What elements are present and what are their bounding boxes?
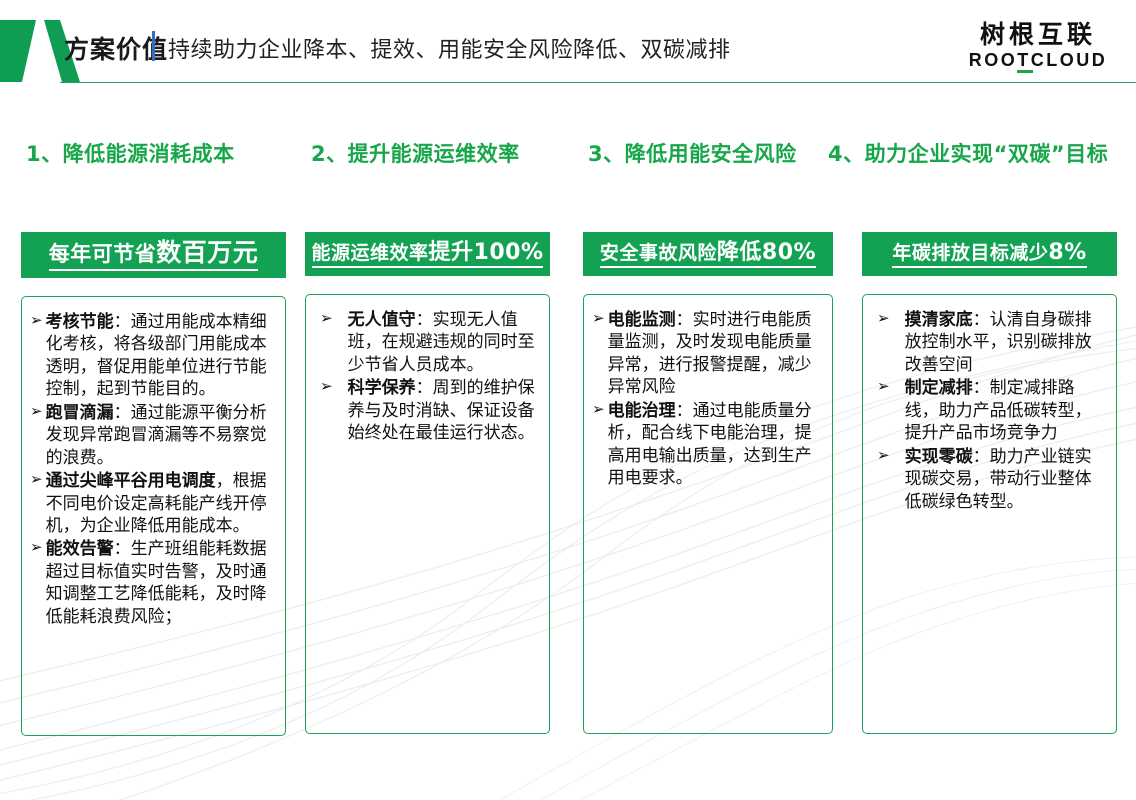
section-heading-2: 2、提升能源运维效率 <box>311 138 520 168</box>
banner-lead-4: 年碳排放目标减少 <box>892 242 1048 264</box>
list-item: ➢ 电能监测：实时进行电能质量监测，及时发现电能质量异常，进行报警提醒，减少异常… <box>592 309 822 399</box>
banner-emph-2: 提升100% <box>429 240 544 265</box>
value-card-1: ➢ 考核节能：通过用能成本精细化考核，将各级部门用能成本透明，督促用能单位进行节… <box>21 296 286 736</box>
bullet-text: 科学保养：周到的维护保养与及时消缺、保证设备始终处在最佳运行状态。 <box>348 377 539 444</box>
bullet-list-1: ➢ 考核节能：通过用能成本精细化考核，将各级部门用能成本透明，督促用能单位进行节… <box>30 311 275 628</box>
arrow-bullet-icon: ➢ <box>592 309 605 329</box>
value-banner-1: 每年可节省数百万元 <box>21 232 286 278</box>
brand-logo: 树根互联 ROOTCLOUD <box>956 22 1120 72</box>
arrow-bullet-icon: ➢ <box>30 470 43 490</box>
value-banner-4: 年碳排放目标减少8% <box>862 232 1117 276</box>
page-header: 方案价值 持续助力企业降本、提效、用能安全风险降低、双碳减排 树根互联 ROOT… <box>0 0 1136 92</box>
header-divider <box>152 31 155 61</box>
arrow-bullet-icon: ➢ <box>30 311 43 331</box>
bullet-text: 电能治理：通过电能质量分析，配合线下电能治理，提高用电输出质量，达到生产用电要求… <box>608 400 822 490</box>
bullet-term: 通过尖峰平谷用电调度 <box>46 471 216 491</box>
bullet-term: 跑冒滴漏 <box>46 403 114 423</box>
bullet-text: 无人值守：实现无人值班，在规避违规的同时至少节省人员成本。 <box>348 309 539 376</box>
bullet-term: 制定减排 <box>905 378 973 398</box>
banner-emph-4: 8% <box>1048 240 1086 265</box>
bullet-list-4: ➢ 摸清家底：认清自身碳排放控制水平，识别碳排放改善空间 ➢ 制定减排：制定减排… <box>871 309 1106 513</box>
header-subtitle: 持续助力企业降本、提效、用能安全风险降低、双碳减排 <box>168 32 731 64</box>
list-item: ➢ 通过尖峰平谷用电调度，根据不同电价设定高耗能产线开停机，为企业降低用能成本。 <box>30 470 275 537</box>
arrow-bullet-icon: ➢ <box>592 400 605 420</box>
list-item: ➢ 无人值守：实现无人值班，在规避违规的同时至少节省人员成本。 <box>314 309 539 376</box>
bullet-term: 电能监测 <box>608 310 676 330</box>
arrow-bullet-icon: ➢ <box>30 402 43 422</box>
bullet-text: 能效告警：生产班组能耗数据超过目标值实时告警，及时通知调整工艺降低能耗，及时降低… <box>46 538 275 628</box>
value-banner-3-text: 安全事故风险降低80% <box>600 240 816 268</box>
arrow-bullet-icon: ➢ <box>320 309 333 329</box>
logo-underline-accent <box>1017 70 1033 73</box>
bullet-term: 电能治理 <box>608 401 676 421</box>
value-banner-1-text: 每年可节省数百万元 <box>49 239 259 271</box>
arrow-bullet-icon: ➢ <box>30 538 43 558</box>
bullet-term: 科学保养 <box>348 378 416 398</box>
bullet-list-3: ➢ 电能监测：实时进行电能质量监测，及时发现电能质量异常，进行报警提醒，减少异常… <box>592 309 822 490</box>
value-column-3: 安全事故风险降低80% ➢ 电能监测：实时进行电能质量监测，及时发现电能质量异常… <box>583 232 833 734</box>
bullet-text: 通过尖峰平谷用电调度，根据不同电价设定高耗能产线开停机，为企业降低用能成本。 <box>46 470 275 537</box>
list-item: ➢ 摸清家底：认清自身碳排放控制水平，识别碳排放改善空间 <box>871 309 1106 376</box>
logo-chinese-text: 树根互联 <box>956 22 1120 48</box>
list-item: ➢ 能效告警：生产班组能耗数据超过目标值实时告警，及时通知调整工艺降低能耗，及时… <box>30 538 275 628</box>
banner-lead-1: 每年可节省 <box>49 242 157 266</box>
value-banner-3: 安全事故风险降低80% <box>583 232 833 276</box>
section-headings-row: 1、降低能源消耗成本 2、提升能源运维效率 3、降低用能安全风险 4、助力企业实… <box>0 138 1136 172</box>
bullet-text: 电能监测：实时进行电能质量监测，及时发现电能质量异常，进行报警提醒，减少异常风险 <box>608 309 822 399</box>
arrow-bullet-icon: ➢ <box>877 309 890 329</box>
value-column-2: 能源运维效率提升100% ➢ 无人值守：实现无人值班，在规避违规的同时至少节省人… <box>305 232 550 734</box>
list-item: ➢ 制定减排：制定减排路线，助力产品低碳转型，提升产品市场竞争力 <box>871 377 1106 444</box>
section-heading-4: 4、助力企业实现“双碳”目标 <box>828 138 1108 168</box>
bullet-term: 无人值守 <box>348 310 416 330</box>
list-item: ➢ 跑冒滴漏：通过能源平衡分析发现异常跑冒滴漏等不易察觉的浪费。 <box>30 402 275 469</box>
value-column-4: 年碳排放目标减少8% ➢ 摸清家底：认清自身碳排放控制水平，识别碳排放改善空间 … <box>862 232 1117 734</box>
header-rule <box>60 82 1136 83</box>
arrow-bullet-icon: ➢ <box>877 446 890 466</box>
value-banner-2: 能源运维效率提升100% <box>305 232 550 276</box>
value-banner-2-text: 能源运维效率提升100% <box>312 240 544 268</box>
bullet-term: 实现零碳 <box>905 447 973 467</box>
value-card-2: ➢ 无人值守：实现无人值班，在规避违规的同时至少节省人员成本。 ➢ 科学保养：周… <box>305 294 550 734</box>
banner-emph-1: 数百万元 <box>156 238 258 267</box>
banner-lead-3: 安全事故风险 <box>600 242 717 264</box>
bullet-term: 摸清家底 <box>905 310 973 330</box>
bullet-term: 考核节能 <box>46 312 114 332</box>
list-item: ➢ 考核节能：通过用能成本精细化考核，将各级部门用能成本透明，督促用能单位进行节… <box>30 311 275 401</box>
banner-lead-2: 能源运维效率 <box>312 242 429 264</box>
list-item: ➢ 实现零碳：助力产业链实现碳交易，带动行业整体低碳绿色转型。 <box>871 446 1106 513</box>
value-column-1: 每年可节省数百万元 ➢ 考核节能：通过用能成本精细化考核，将各级部门用能成本透明… <box>21 232 286 736</box>
bullet-text: 跑冒滴漏：通过能源平衡分析发现异常跑冒滴漏等不易察觉的浪费。 <box>46 402 275 469</box>
bullet-text: 考核节能：通过用能成本精细化考核，将各级部门用能成本透明，督促用能单位进行节能控… <box>46 311 275 401</box>
logo-english-label: ROOTCLOUD <box>969 50 1108 70</box>
banner-emph-3: 降低80% <box>717 240 816 265</box>
bullet-text: 实现零碳：助力产业链实现碳交易，带动行业整体低碳绿色转型。 <box>905 446 1106 513</box>
arrow-bullet-icon: ➢ <box>877 377 890 397</box>
bullet-text: 制定减排：制定减排路线，助力产品低碳转型，提升产品市场竞争力 <box>905 377 1106 444</box>
list-item: ➢ 科学保养：周到的维护保养与及时消缺、保证设备始终处在最佳运行状态。 <box>314 377 539 444</box>
logo-english-text: ROOTCLOUD <box>956 50 1120 72</box>
bullet-term: 能效告警 <box>46 539 114 559</box>
bullet-text: 摸清家底：认清自身碳排放控制水平，识别碳排放改善空间 <box>905 309 1106 376</box>
value-card-4: ➢ 摸清家底：认清自身碳排放控制水平，识别碳排放改善空间 ➢ 制定减排：制定减排… <box>862 294 1117 734</box>
section-heading-3: 3、降低用能安全风险 <box>588 138 797 168</box>
value-banner-4-text: 年碳排放目标减少8% <box>892 240 1086 268</box>
section-heading-1: 1、降低能源消耗成本 <box>26 138 235 168</box>
arrow-bullet-icon: ➢ <box>320 377 333 397</box>
bullet-list-2: ➢ 无人值守：实现无人值班，在规避违规的同时至少节省人员成本。 ➢ 科学保养：周… <box>314 309 539 445</box>
list-item: ➢ 电能治理：通过电能质量分析，配合线下电能治理，提高用电输出质量，达到生产用电… <box>592 400 822 490</box>
value-card-3: ➢ 电能监测：实时进行电能质量监测，及时发现电能质量异常，进行报警提醒，减少异常… <box>583 294 833 734</box>
